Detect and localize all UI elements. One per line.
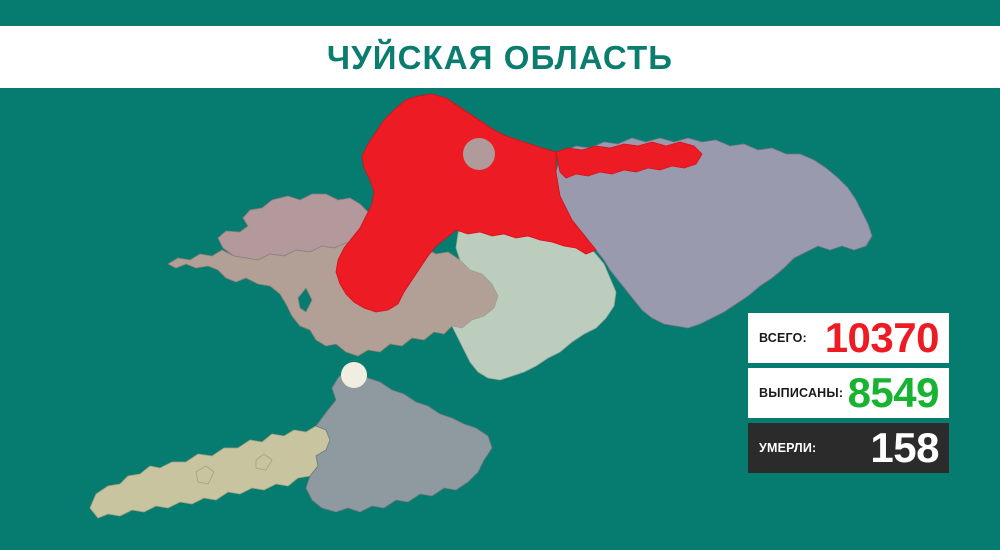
stat-label-recovered: ВЫПИСАНЫ: [759, 386, 843, 400]
title-bar: ЧУЙСКАЯ ОБЛАСТЬ [0, 26, 1000, 88]
infographic-page: ЧУЙСКАЯ ОБЛАСТЬ ВСЕГО: [0, 0, 1000, 550]
stat-row-recovered: ВЫПИСАНЫ: 8549 [748, 368, 949, 418]
stat-value-died: 158 [816, 427, 939, 469]
statistics-panel: ВСЕГО: 10370 ВЫПИСАНЫ: 8549 УМЕРЛИ: 158 [748, 313, 949, 473]
top-teal-band [0, 0, 1000, 26]
bishkek-marker[interactable] [463, 138, 495, 170]
stat-label-died: УМЕРЛИ: [759, 441, 816, 455]
stat-row-died: УМЕРЛИ: 158 [748, 423, 949, 473]
stat-label-total: ВСЕГО: [759, 331, 807, 345]
osh-city-marker[interactable] [341, 362, 367, 388]
stat-value-total: 10370 [807, 317, 939, 359]
stat-row-total: ВСЕГО: 10370 [748, 313, 949, 363]
map-region-jalal-abad[interactable] [168, 236, 498, 356]
stat-value-recovered: 8549 [843, 372, 939, 414]
page-title: ЧУЙСКАЯ ОБЛАСТЬ [327, 41, 673, 74]
map-region-batken[interactable] [90, 426, 330, 518]
map-region-osh[interactable] [306, 370, 492, 512]
